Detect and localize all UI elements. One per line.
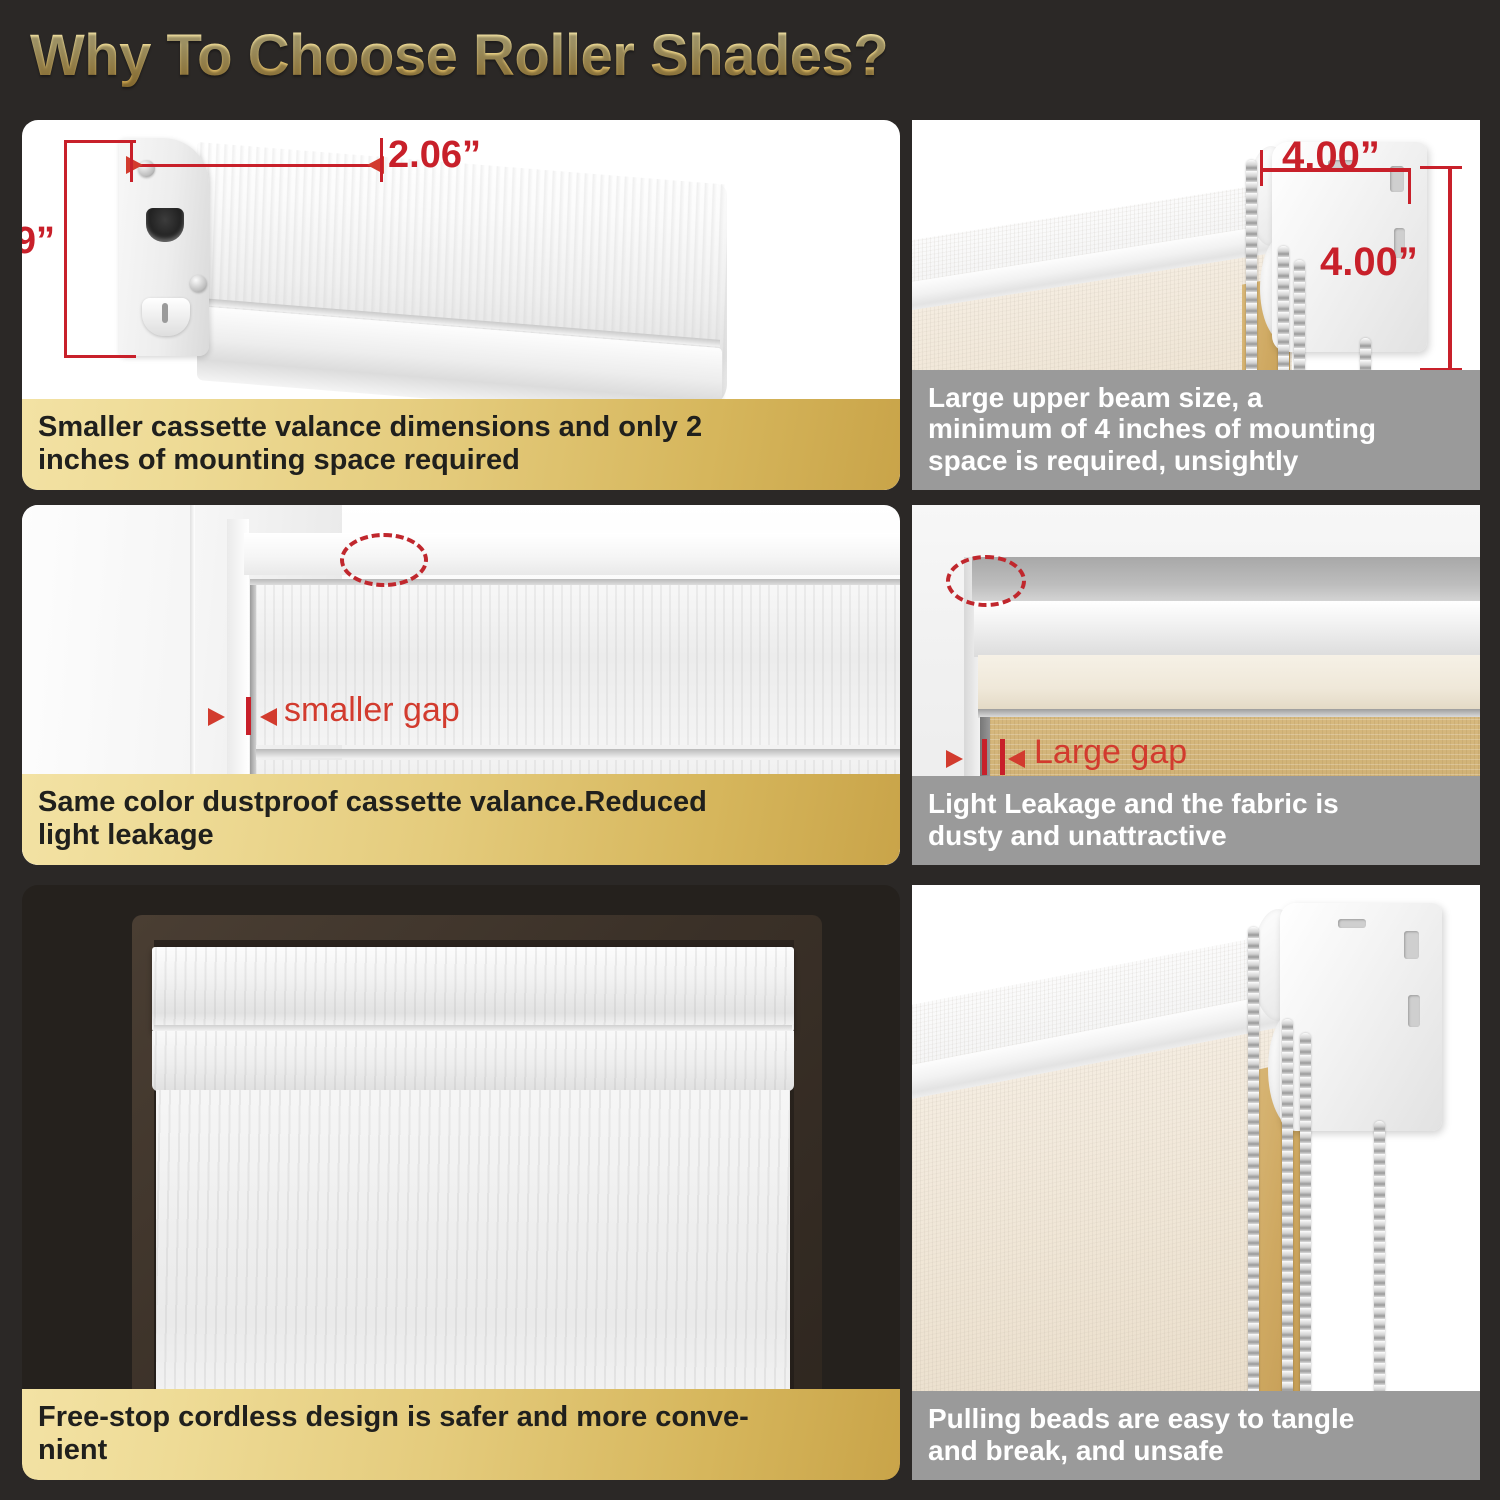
infographic-page: Why To Choose Roller Shades? 2.06” [0, 0, 1500, 1500]
shade-mid-rail [250, 749, 900, 758]
bead-chain-2 [1282, 1019, 1293, 1439]
valance-lower-lip [152, 1031, 794, 1091]
width-dimension-label: 2.06” [388, 134, 481, 177]
bracket-slot-2 [1408, 995, 1420, 1027]
panel-1-caption-line-2: inches of mounting space required [38, 444, 884, 476]
beam-width-tick-left [1260, 150, 1263, 186]
panel-4-caption-line-1: Light Leakage and the fabric is [928, 788, 1464, 819]
beam-height-label: 4.00” [1320, 240, 1418, 285]
panel-cordless-design: Free-stop cordless design is safer and m… [22, 885, 900, 1480]
bracket-slot-3 [1338, 919, 1366, 928]
height-dimension-label: 5.49” [22, 220, 55, 263]
panel-pulling-beads: Pulling beads are easy to tangle and bre… [912, 885, 1480, 1480]
panel-large-upper-beam: 4.00” 4.00” Large upper beam size, a min… [912, 120, 1480, 490]
panel-smaller-cassette: 2.06” 5.49” Smaller cassette valance dim… [22, 120, 900, 490]
highlight-ellipse-icon [340, 533, 428, 587]
panel-6-caption: Pulling beads are easy to tangle and bre… [912, 1391, 1480, 1480]
panel-light-leakage: Large gap Light Leakage and the fabric i… [912, 505, 1480, 865]
cassette-screw-bottom [190, 275, 207, 292]
panel-2-caption: Large upper beam size, a minimum of 4 in… [912, 370, 1480, 490]
gap-arrow-right [1008, 750, 1025, 768]
valance-top-shadow [972, 557, 1480, 603]
panel-dustproof-valance: smaller gap Same color dustproof cassett… [22, 505, 900, 865]
panel-4-caption-line-2: dusty and unattractive [928, 820, 1464, 851]
height-dim-cap-bottom [64, 355, 136, 358]
gap-arrow-left [208, 708, 225, 726]
beam-height-cap-top [1420, 166, 1462, 169]
panel-5-caption-line-2: nient [38, 1434, 884, 1466]
gap-marker-2 [1000, 739, 1005, 775]
page-title: Why To Choose Roller Shades? [30, 22, 888, 89]
height-dim-line [64, 140, 67, 358]
beam-width-tick-right [1408, 168, 1411, 204]
height-dim-cap-top [64, 140, 136, 143]
panel-5-caption: Free-stop cordless design is safer and m… [22, 1389, 900, 1480]
width-dim-tick-left [130, 142, 133, 182]
width-dim-arrow-left [126, 156, 143, 174]
valance-lip-texture [152, 1031, 794, 1091]
width-dim-line [132, 164, 382, 167]
panel-3-caption-line-2: light leakage [38, 819, 884, 851]
panel-3-caption-line-1: Same color dustproof cassette valance.Re… [38, 786, 884, 818]
valance-texture [152, 947, 794, 1032]
panel-3-caption: Same color dustproof cassette valance.Re… [22, 774, 900, 865]
cassette-dark-slot [146, 208, 184, 242]
panel-1-caption-line-1: Smaller cassette valance dimensions and … [38, 411, 884, 443]
panel-1-caption: Smaller cassette valance dimensions and … [22, 399, 900, 490]
bead-chain-1 [1248, 927, 1259, 1437]
cassette-valance [152, 947, 794, 1032]
panel-4-caption: Light Leakage and the fabric is dusty an… [912, 776, 1480, 865]
gap-arrow-right [260, 708, 277, 726]
panel-6-caption-line-1: Pulling beads are easy to tangle [928, 1403, 1464, 1434]
beam-width-label: 4.00” [1282, 134, 1380, 179]
panel-2-caption-line-1: Large upper beam size, a [928, 382, 1464, 413]
large-gap-label: Large gap [1034, 733, 1187, 772]
bracket-slot-1 [1404, 931, 1419, 959]
valance-front-cream [978, 655, 1480, 711]
bead-chain-3 [1300, 1033, 1311, 1438]
beam-height-dim-line [1448, 166, 1452, 371]
width-dim-tick-right [380, 138, 383, 182]
valance-front-white [974, 601, 1480, 657]
gap-marker-1 [982, 739, 987, 775]
roller-shade-fabric [156, 1090, 790, 1400]
gap-marker [246, 697, 251, 735]
gap-arrow-left [946, 750, 963, 768]
highlight-ellipse-icon [946, 555, 1026, 607]
smaller-gap-label: smaller gap [284, 691, 460, 730]
panel-2-caption-line-3: space is required, unsightly [928, 445, 1464, 476]
panel-6-caption-line-2: and break, and unsafe [928, 1435, 1464, 1466]
panel-5-caption-line-1: Free-stop cordless design is safer and m… [38, 1401, 884, 1433]
shade-fabric-texture [156, 1090, 790, 1400]
panel-2-caption-line-2: minimum of 4 inches of mounting [928, 413, 1464, 444]
